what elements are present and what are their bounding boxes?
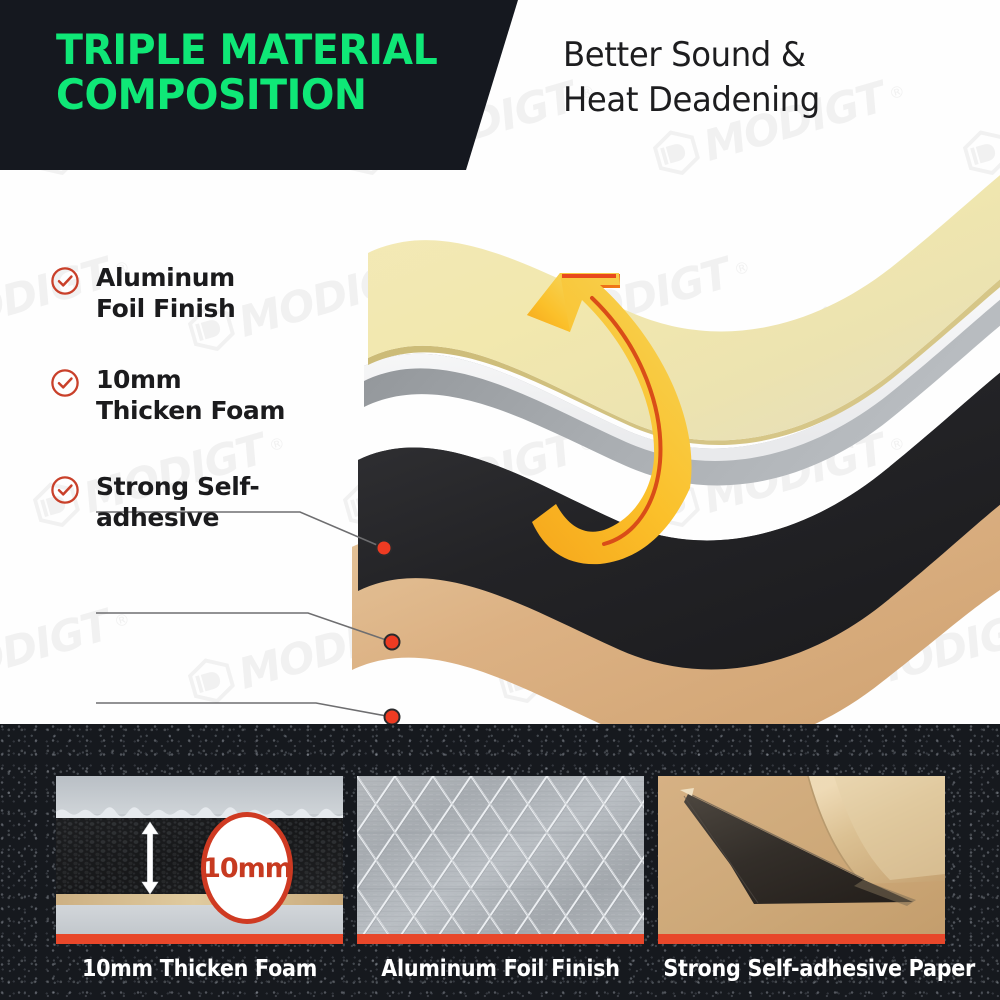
foam-cross-section-image [56,776,343,944]
panel-underline [658,935,945,944]
feature-item-aluminum-foil-finish[interactable]: Aluminum Foil Finish [50,263,235,324]
feature-label: 10mm Thicken Foam [96,365,285,426]
header-subtitle: Better Sound & Heat Deadening [563,33,820,123]
panel-aluminum-foil[interactable] [357,776,644,944]
panel-caption: Strong Self-adhesive Paper [663,956,939,982]
thickness-badge: 10mm [201,812,293,924]
adhesive-paper-peel-image [658,776,945,944]
panel-underline [357,935,644,944]
aluminum-foil-texture-image [357,776,644,944]
feature-item-strong-self-adhesive[interactable]: Strong Self- adhesive [50,472,259,533]
panel-underline [56,935,343,944]
panel-adhesive-paper[interactable] [658,776,945,944]
feature-item-thicken-foam[interactable]: 10mm Thicken Foam [50,365,285,426]
callout-leader-lines [96,512,392,717]
thickness-arrow-icon [139,820,161,896]
header-banner: TRIPLE MATERIAL COMPOSITION Better Sound… [0,0,1000,170]
layers-diagram-region [0,170,1000,724]
check-circle-icon [50,368,80,398]
panel-caption: Aluminum Foil Finish [371,956,629,982]
product-infographic: MODIGT®MODIGT®MODIGT®MODIGT®MODIGT®MODIG… [0,0,1000,1000]
page-title: TRIPLE MATERIAL COMPOSITION [56,28,437,118]
check-circle-icon [50,266,80,296]
feature-label: Strong Self- adhesive [96,472,259,533]
panel-thicken-foam[interactable]: 10mm [56,776,343,944]
material-gallery-strip: 10mm [0,724,1000,1000]
panel-caption: 10mm Thicken Foam [70,956,328,982]
triple-layer-material-diagram [0,170,1000,724]
feature-label: Aluminum Foil Finish [96,263,235,324]
check-circle-icon [50,475,80,505]
